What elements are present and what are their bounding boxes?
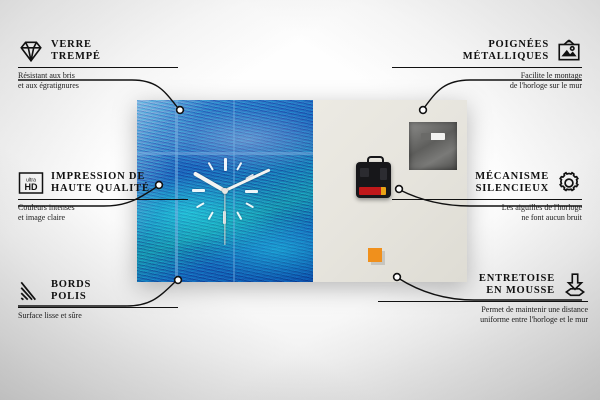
callout-divider bbox=[392, 199, 582, 200]
callout-header: ultra HD IMPRESSION DE HAUTE QUALITÉ bbox=[18, 170, 188, 196]
callout-entretoise-en-mousse: ENTRETOISE EN MOUSSE Permet de maintenir… bbox=[378, 272, 588, 325]
callout-header: ENTRETOISE EN MOUSSE bbox=[378, 272, 588, 298]
callout-divider bbox=[378, 301, 588, 302]
callout-desc-line2: ne font aucun bruit bbox=[392, 213, 582, 223]
callout-title-line2: TREMPÉ bbox=[51, 51, 101, 64]
infographic-canvas: VERRE TREMPÉ Résistant aux bris et aux é… bbox=[0, 0, 600, 400]
callout-desc-line2: et aux égratignures bbox=[18, 81, 178, 91]
callout-header: VERRE TREMPÉ bbox=[18, 38, 178, 64]
callout-title-line1: MÉCANISME bbox=[475, 171, 549, 184]
callout-desc-line2: uniforme entre l'horloge et le mur bbox=[378, 315, 588, 325]
mechanism-detail-left bbox=[360, 168, 369, 177]
callout-desc-line1: Facilite le montage bbox=[392, 71, 582, 81]
ultra-hd-icon: ultra HD bbox=[18, 170, 44, 196]
svg-text:HD: HD bbox=[25, 182, 38, 192]
callout-title-line2: MÉTALLIQUES bbox=[463, 51, 549, 64]
callout-desc-line1: Les aiguilles de l'horloge bbox=[392, 203, 582, 213]
callout-desc-line1: Permet de maintenir une distance bbox=[378, 305, 588, 315]
callout-bords-polis: BORDS POLIS Surface lisse et sûre bbox=[18, 278, 178, 321]
callout-header: BORDS POLIS bbox=[18, 278, 178, 304]
callout-header: POIGNÉES MÉTALLIQUES bbox=[392, 38, 582, 64]
mechanism-detail-right bbox=[380, 168, 387, 180]
down-arrow-pad-icon bbox=[562, 272, 588, 298]
mechanism-hook bbox=[367, 156, 384, 167]
callout-title-line1: POIGNÉES bbox=[463, 39, 549, 52]
callout-desc-line1: Résistant aux bris bbox=[18, 71, 178, 81]
minute-hand bbox=[224, 168, 271, 192]
hanger-slot bbox=[421, 133, 445, 140]
second-hand bbox=[224, 191, 225, 245]
callout-title-line1: IMPRESSION DE bbox=[51, 171, 150, 184]
hanging-frame-icon bbox=[556, 38, 582, 64]
callout-divider bbox=[18, 307, 178, 308]
callout-poignees-metalliques: POIGNÉES MÉTALLIQUES Facilite le montage… bbox=[392, 38, 582, 91]
callout-impression-haute-qualite: ultra HD IMPRESSION DE HAUTE QUALITÉ Cou… bbox=[18, 170, 188, 223]
diamond-icon bbox=[18, 38, 44, 64]
hour-hand bbox=[193, 171, 226, 192]
callout-divider bbox=[18, 199, 188, 200]
callout-desc-line1: Couleurs intenses bbox=[18, 203, 188, 213]
callout-divider bbox=[392, 67, 582, 68]
callout-title-line2: POLIS bbox=[51, 291, 91, 304]
gear-icon bbox=[556, 170, 582, 196]
hands-center-cap bbox=[222, 188, 228, 194]
foam-spacer-part bbox=[368, 248, 382, 262]
callout-desc-line2: de l'horloge sur le mur bbox=[392, 81, 582, 91]
battery bbox=[359, 187, 386, 195]
diagonal-lines-icon bbox=[18, 278, 44, 304]
callout-divider bbox=[18, 67, 178, 68]
callout-title-line2: SILENCIEUX bbox=[475, 183, 549, 196]
callout-desc-line1: Surface lisse et sûre bbox=[18, 311, 178, 321]
callout-title-line2: HAUTE QUALITÉ bbox=[51, 183, 150, 196]
clock-mechanism-part bbox=[356, 162, 391, 198]
metal-hanger-part bbox=[409, 122, 457, 170]
callout-verre-trempe: VERRE TREMPÉ Résistant aux bris et aux é… bbox=[18, 38, 178, 91]
callout-title-line2: EN MOUSSE bbox=[479, 285, 555, 298]
callout-title-line1: VERRE bbox=[51, 39, 101, 52]
callout-mecanisme-silencieux: MÉCANISME SILENCIEUX Les aiguilles de l'… bbox=[392, 170, 582, 223]
callout-title-line1: ENTRETOISE bbox=[479, 273, 555, 286]
callout-header: MÉCANISME SILENCIEUX bbox=[392, 170, 582, 196]
callout-desc-line2: et image claire bbox=[18, 213, 188, 223]
callout-title-line1: BORDS bbox=[51, 279, 91, 292]
